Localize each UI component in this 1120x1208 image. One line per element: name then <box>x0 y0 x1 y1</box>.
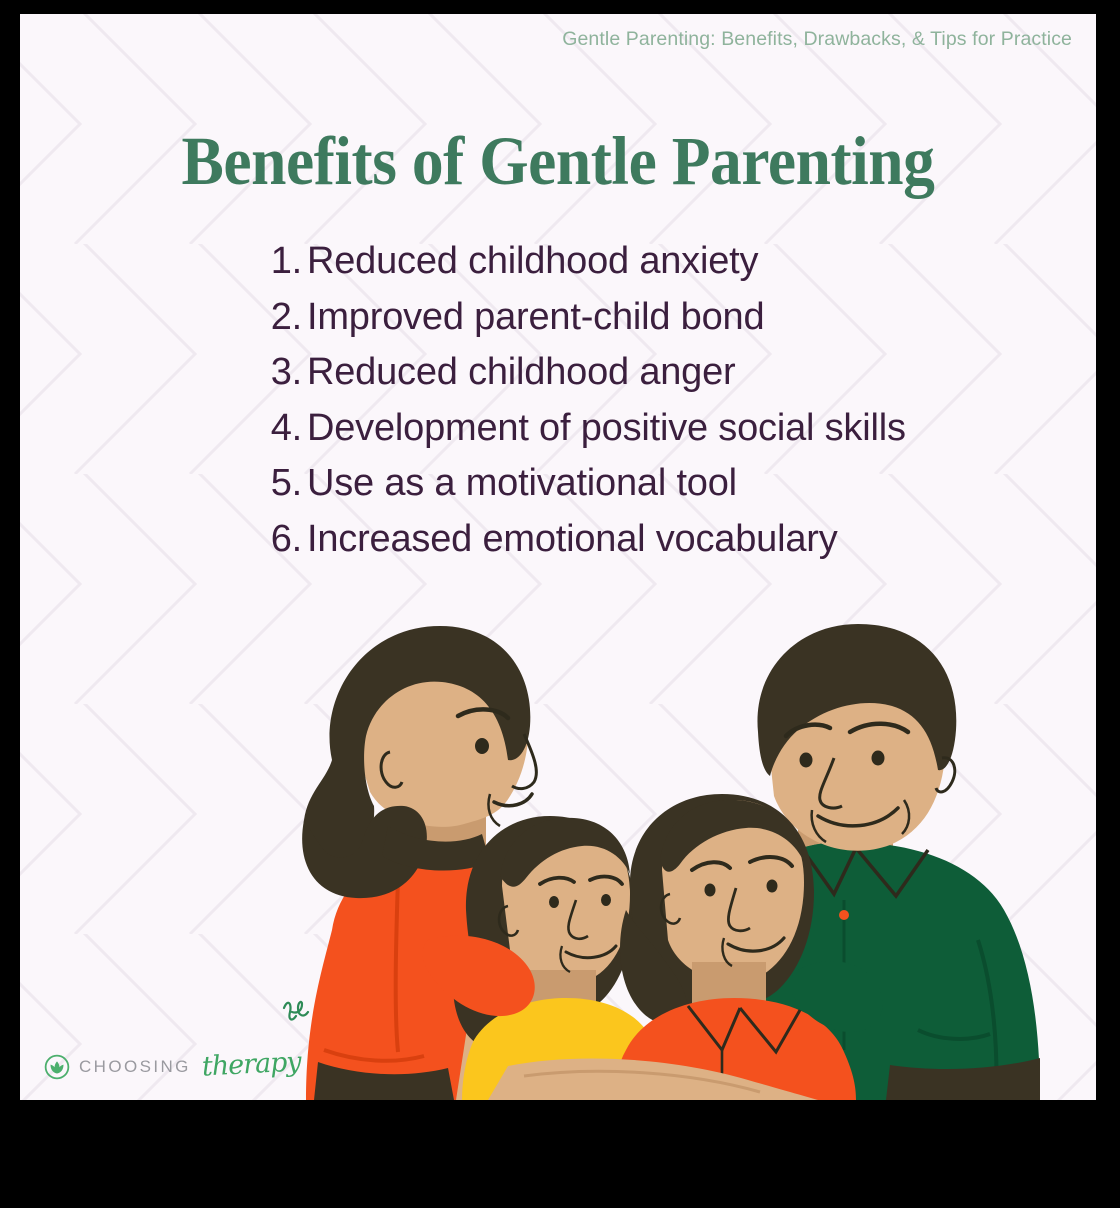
benefits-list: 1. Reduced childhood anxiety 2. Improved… <box>256 240 1016 573</box>
artist-signature <box>284 1002 308 1020</box>
list-item: 1. Reduced childhood anxiety <box>256 240 1016 296</box>
list-item-number: 1. <box>256 240 302 283</box>
list-item-label: Reduced childhood anger <box>307 351 736 394</box>
list-item-label: Improved parent-child bond <box>307 296 764 339</box>
leaf-lotus-icon <box>44 1054 70 1080</box>
logo-word-choosing: CHOOSING <box>79 1057 191 1077</box>
logo-word-therapy: therapy <box>201 1046 301 1082</box>
infographic-card: Gentle Parenting: Benefits, Drawbacks, &… <box>20 14 1096 1100</box>
list-item: 4. Development of positive social skills <box>256 407 1016 463</box>
article-title-eyebrow: Gentle Parenting: Benefits, Drawbacks, &… <box>562 28 1072 51</box>
list-item: 6. Increased emotional vocabulary <box>256 518 1016 574</box>
list-item-number: 2. <box>256 296 302 339</box>
page-title: Benefits of Gentle Parenting <box>63 122 1053 201</box>
family-illustration <box>278 610 1096 1100</box>
list-item-number: 3. <box>256 351 302 394</box>
list-item: 3. Reduced childhood anger <box>256 351 1016 407</box>
choosing-therapy-logo[interactable]: CHOOSING therapy <box>44 1051 301 1082</box>
list-item-number: 5. <box>256 462 302 505</box>
list-item-number: 4. <box>256 407 302 450</box>
list-item-number: 6. <box>256 518 302 561</box>
list-item-label: Use as a motivational tool <box>307 462 737 505</box>
shirt-button-icon <box>839 910 849 920</box>
list-item: 2. Improved parent-child bond <box>256 296 1016 352</box>
list-item-label: Development of positive social skills <box>307 407 906 450</box>
list-item-label: Increased emotional vocabulary <box>307 518 838 561</box>
list-item-label: Reduced childhood anxiety <box>307 240 758 283</box>
list-item: 5. Use as a motivational tool <box>256 462 1016 518</box>
